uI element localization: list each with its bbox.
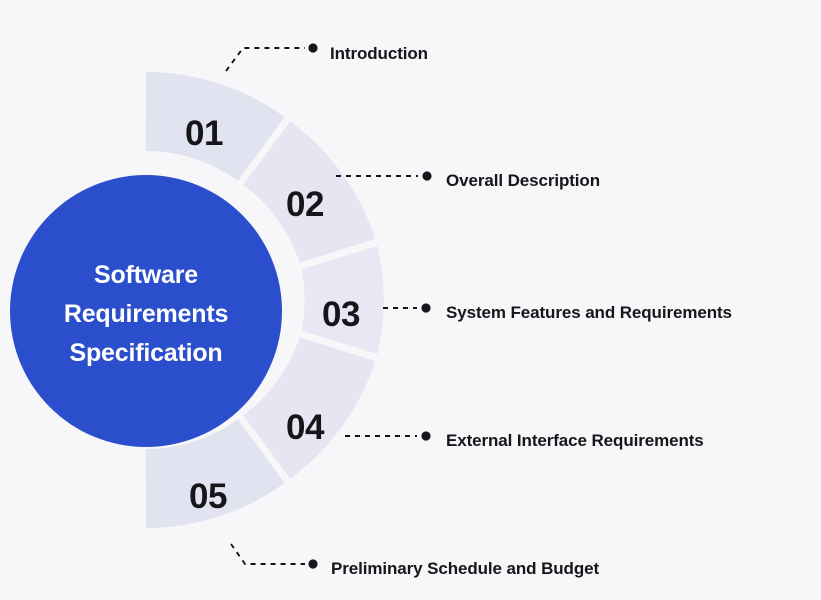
connector-04	[345, 431, 431, 440]
connector-dot-01	[308, 43, 317, 52]
connector-dot-02	[422, 171, 431, 180]
connector-dot-04	[421, 431, 430, 440]
step-label-04[interactable]: External Interface Requirements	[446, 431, 704, 450]
segment-number-05: 05	[189, 477, 227, 516]
step-label-05[interactable]: Preliminary Schedule and Budget	[331, 559, 599, 578]
connector-02	[336, 171, 432, 180]
segment-number-02: 02	[286, 185, 324, 224]
hub-line-2: Requirements	[64, 300, 228, 328]
connector-dot-03	[421, 303, 430, 312]
connector-01	[226, 43, 318, 71]
step-label-01[interactable]: Introduction	[330, 44, 428, 63]
step-label-02[interactable]: Overall Description	[446, 171, 600, 190]
connector-03	[383, 303, 431, 312]
step-label-03[interactable]: System Features and Requirements	[446, 303, 732, 322]
segment-number-01: 01	[185, 114, 223, 153]
diagram-canvas: 01 02 03 04 05 Software Requirements Spe…	[0, 0, 821, 600]
connector-05	[231, 544, 318, 569]
process-donut-diagram: 01 02 03 04 05 Software Requirements Spe…	[0, 0, 821, 600]
hub-line-3: Specification	[70, 339, 223, 367]
connector-dot-05	[308, 559, 317, 568]
segment-number-03: 03	[322, 295, 360, 334]
hub-line-1: Software	[94, 261, 198, 289]
segment-number-04: 04	[286, 408, 325, 447]
